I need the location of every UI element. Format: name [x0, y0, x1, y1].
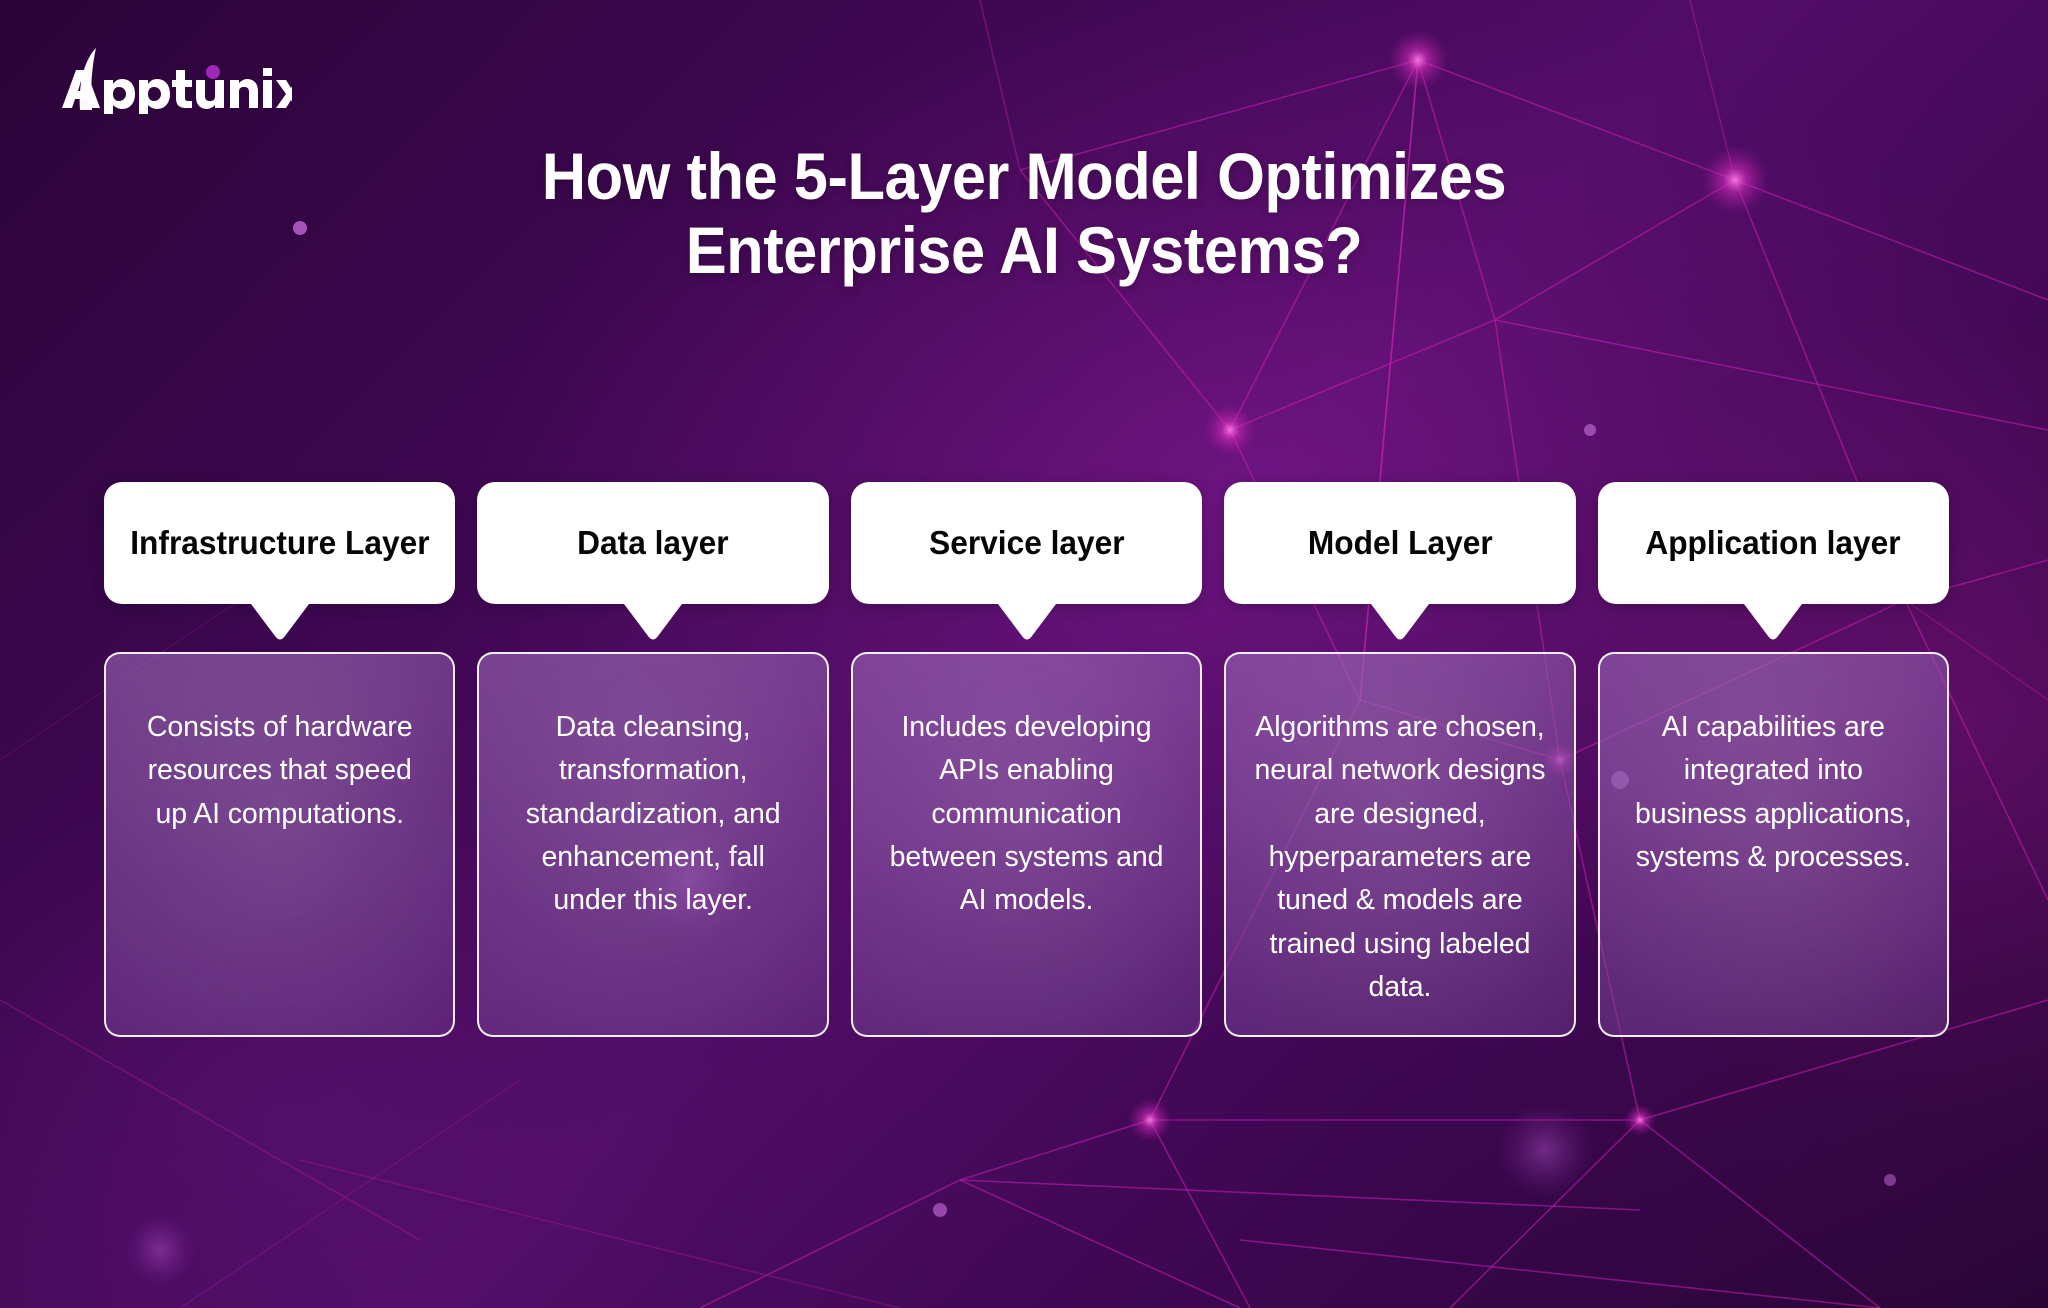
layer-description-card-3: Includes developing APIs enabling commun… [851, 652, 1202, 1037]
bubble-tail-icon-5 [1744, 604, 1802, 644]
page-title: How the 5-Layer Model Optimizes Enterpri… [72, 140, 1977, 288]
layer-description-card-4: Algorithms are chosen, neural network de… [1224, 652, 1575, 1037]
bubble-tail-icon-1 [251, 604, 309, 644]
bubble-tail-icon-4 [1371, 604, 1429, 644]
apptunix-logo[interactable] [52, 44, 292, 114]
layer-label-bubble-4[interactable]: Model Layer [1224, 482, 1575, 604]
layer-label-5: Application layer [1646, 523, 1901, 563]
layer-column-infrastructure: Infrastructure Layer Consists of hardwar… [104, 482, 455, 1037]
layer-label-1: Infrastructure Layer [130, 523, 429, 563]
layer-label-bubble-wrap-3: Service layer [851, 482, 1202, 604]
layer-description-4: Algorithms are chosen, neural network de… [1252, 706, 1547, 1009]
layer-label-bubble-5[interactable]: Application layer [1598, 482, 1949, 604]
title-line-1: How the 5-Layer Model Optimizes [542, 139, 1506, 213]
layer-label-3: Service layer [929, 523, 1125, 563]
layer-description-2: Data cleansing, transformation, standard… [506, 706, 801, 1009]
layer-label-bubble-wrap-1: Infrastructure Layer [104, 482, 455, 604]
layer-label-bubble-3[interactable]: Service layer [851, 482, 1202, 604]
layer-description-card-1: Consists of hardware resources that spee… [104, 652, 455, 1037]
infographic-canvas: How the 5-Layer Model Optimizes Enterpri… [0, 0, 2048, 1308]
layer-columns: Infrastructure Layer Consists of hardwar… [104, 482, 1949, 1037]
layer-label-2: Data layer [577, 523, 728, 563]
bubble-tail-icon-3 [998, 604, 1056, 644]
layer-label-bubble-wrap-2: Data layer [477, 482, 828, 604]
layer-label-bubble-wrap-4: Model Layer [1224, 482, 1575, 604]
layer-description-card-2: Data cleansing, transformation, standard… [477, 652, 828, 1037]
layer-description-5: AI capabilities are integrated into busi… [1626, 706, 1921, 1009]
layer-column-model: Model Layer Algorithms are chosen, neura… [1224, 482, 1575, 1037]
layer-label-bubble-1[interactable]: Infrastructure Layer [104, 482, 455, 604]
layer-label-4: Model Layer [1307, 523, 1492, 563]
layer-column-application: Application layer AI capabilities are in… [1598, 482, 1949, 1037]
title-line-2: Enterprise AI Systems? [686, 213, 1363, 287]
layer-description-3: Includes developing APIs enabling commun… [879, 706, 1174, 1009]
layer-column-service: Service layer Includes developing APIs e… [851, 482, 1202, 1037]
layer-column-data: Data layer Data cleansing, transformatio… [477, 482, 828, 1037]
layer-description-1: Consists of hardware resources that spee… [132, 706, 427, 1009]
layer-label-bubble-wrap-5: Application layer [1598, 482, 1949, 604]
layer-description-card-5: AI capabilities are integrated into busi… [1598, 652, 1949, 1037]
bubble-tail-icon-2 [624, 604, 682, 644]
layer-label-bubble-2[interactable]: Data layer [477, 482, 828, 604]
